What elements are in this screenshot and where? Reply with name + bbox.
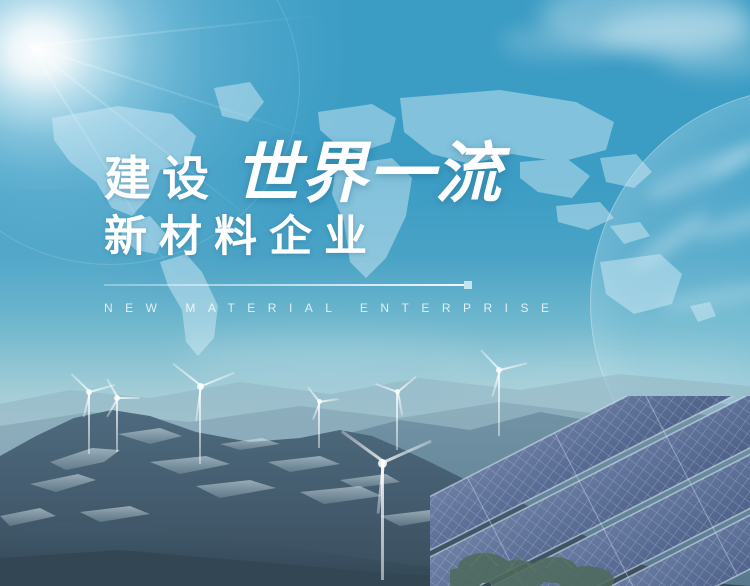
- divider-line: [104, 284, 464, 286]
- wind-turbine-icon: [306, 402, 332, 448]
- wind-turbine-icon: [352, 462, 412, 580]
- cloud: [500, 26, 620, 58]
- foreground-foliage: [450, 522, 620, 586]
- wind-turbine-icon: [380, 392, 414, 450]
- wind-turbine-icon: [74, 392, 104, 454]
- subtitle-english: NEW MATERIAL ENTERPRISE: [104, 302, 664, 314]
- wind-turbine-icon: [102, 398, 132, 452]
- divider-endpoint: [464, 281, 472, 289]
- headline-line-one: 建设 世界一流: [104, 128, 664, 202]
- headline-line-two: 新材料企业: [104, 214, 664, 261]
- headline-prefix: 建设: [104, 155, 220, 202]
- wind-turbine-icon: [178, 386, 222, 464]
- headline-block: 建设 世界一流 新材料企业 NEW MATERIAL ENTERPRISE: [104, 128, 664, 314]
- headline-emphasis: 世界一流: [234, 140, 502, 206]
- divider: [104, 281, 472, 289]
- hero-banner: 建设 世界一流 新材料企业 NEW MATERIAL ENTERPRISE: [0, 0, 750, 586]
